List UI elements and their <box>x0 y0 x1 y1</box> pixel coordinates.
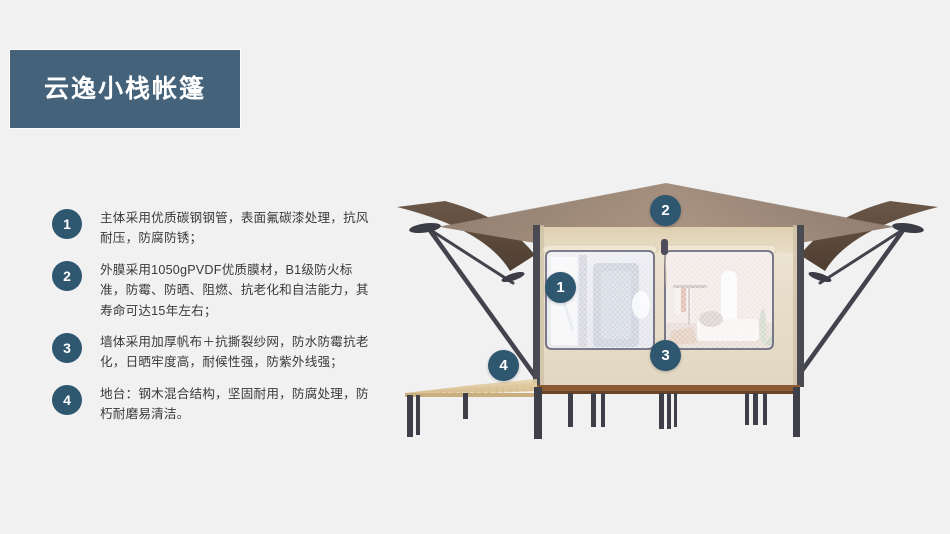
feature-text-3: 墙体采用加厚帆布＋抗撕裂纱网，防水防霉抗老化，日晒牢度高，耐候性强，防紫外线强； <box>100 332 372 373</box>
feature-list: 1 主体采用优质碳钢钢管，表面氟碳漆处理，抗风耐压，防腐防锈； 2 外膜采用10… <box>52 208 372 436</box>
slide-canvas: 云逸小栈帐篷 1 主体采用优质碳钢钢管，表面氟碳漆处理，抗风耐压，防腐防锈； 2… <box>0 0 950 534</box>
post-highlight-right <box>793 225 797 387</box>
feature-text-4: 地台：钢木混合结构，坚固耐用，防腐处理，防朽耐磨易清洁。 <box>100 384 372 425</box>
deck-support-legs <box>407 387 800 439</box>
feature-badge-4: 4 <box>52 385 82 415</box>
list-item: 3 墙体采用加厚帆布＋抗撕裂纱网，防水防霉抗老化，日晒牢度高，耐候性强，防紫外线… <box>52 332 372 373</box>
callout-badge-3[interactable]: 3 <box>650 340 681 371</box>
window-right <box>665 251 783 349</box>
list-item: 1 主体采用优质碳钢钢管，表面氟碳漆处理，抗风耐压，防腐防锈； <box>52 208 372 249</box>
deck-side-edge <box>405 393 537 397</box>
deck-surface <box>405 379 537 393</box>
title-banner: 云逸小栈帐篷 <box>10 50 240 128</box>
feature-badge-3: 3 <box>52 333 82 363</box>
steel-frame-post-right <box>797 225 804 387</box>
steel-frame-post-left <box>533 225 540 387</box>
feature-badge-1: 1 <box>52 209 82 239</box>
callout-badge-4[interactable]: 4 <box>488 350 519 381</box>
roof-zipper-pull <box>661 239 668 255</box>
list-item: 2 外膜采用1050gPVDF优质膜材，B1级防火标准，防霉、防晒、阻燃、抗老化… <box>52 260 372 321</box>
feature-text-2: 外膜采用1050gPVDF优质膜材，B1级防火标准，防霉、防晒、阻燃、抗老化和自… <box>100 260 372 321</box>
callout-badge-1[interactable]: 1 <box>545 272 576 303</box>
feature-badge-2: 2 <box>52 261 82 291</box>
list-item: 4 地台：钢木混合结构，坚固耐用，防腐处理，防朽耐磨易清洁。 <box>52 384 372 425</box>
page-title: 云逸小栈帐篷 <box>44 77 206 102</box>
feature-text-1: 主体采用优质碳钢钢管，表面氟碳漆处理，抗风耐压，防腐防锈； <box>100 208 372 249</box>
callout-badge-2[interactable]: 2 <box>650 195 681 226</box>
safari-tent-illustration: 1 2 3 4 <box>385 165 950 450</box>
